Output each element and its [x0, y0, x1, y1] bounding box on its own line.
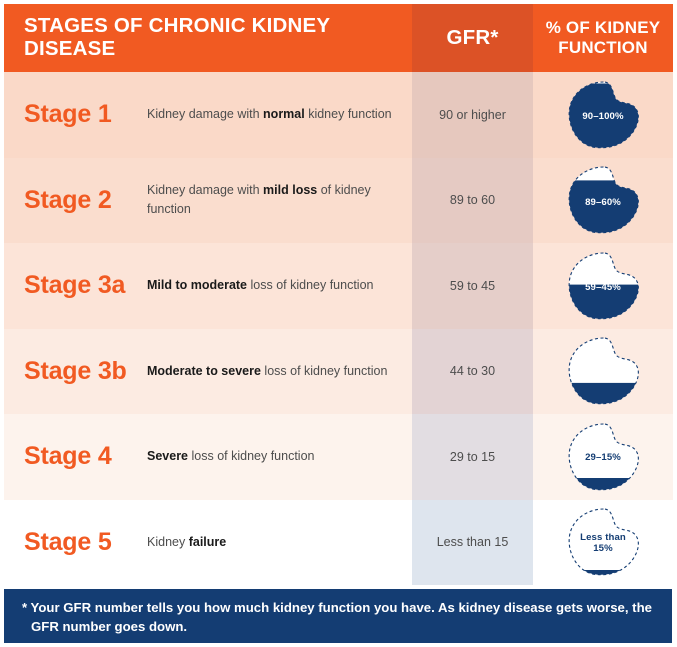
percent-function-cell: 44–30%	[533, 329, 673, 415]
kidney-label-line1: 90–100%	[582, 111, 623, 122]
kidney-label-line1: 59–45%	[585, 282, 621, 293]
kidney-percent-label: Less than15%	[580, 532, 626, 555]
stage-description-emphasis: mild loss	[263, 183, 317, 197]
gfr-value: 44 to 30	[450, 364, 495, 378]
stage-description: Kidney damage with normal kidney functio…	[147, 105, 402, 124]
stage-name-label: Stage 1	[24, 100, 147, 129]
stage-row: Stage 4 Severe loss of kidney function 2…	[4, 414, 673, 500]
stage-name-label: Stage 5	[24, 528, 147, 557]
stage-cell: Stage 3b Moderate to severe loss of kidn…	[4, 329, 412, 415]
kidney-label-line1: Less than	[580, 532, 626, 543]
header-cell-percent: % OF KIDNEY FUNCTION	[533, 4, 673, 72]
kidney-percent-label: 44–30%	[585, 371, 621, 383]
kidney-label-line2: 15%	[593, 543, 613, 554]
stage-description-emphasis: Mild to moderate	[147, 278, 247, 292]
percent-function-cell: 89–60%	[533, 158, 673, 244]
header-cell-gfr: GFR*	[412, 4, 533, 72]
kidney-icon: Less than15%	[564, 507, 642, 577]
kidney-icon: 89–60%	[564, 165, 642, 235]
percent-function-cell: 59–45%	[533, 243, 673, 329]
stage-description-emphasis: failure	[189, 535, 227, 549]
stage-description: Severe loss of kidney function	[147, 447, 324, 466]
percent-function-cell: 90–100%	[533, 72, 673, 158]
kidney-label-line1: 44–30%	[585, 371, 621, 382]
stages-table-body: Stage 1 Kidney damage with normal kidney…	[4, 72, 673, 585]
kidney-percent-label: 59–45%	[585, 282, 621, 294]
stage-row: Stage 3a Mild to moderate loss of kidney…	[4, 243, 673, 329]
stage-cell: Stage 4 Severe loss of kidney function	[4, 414, 412, 500]
stage-description: Kidney failure	[147, 533, 236, 552]
stage-description-emphasis: Severe	[147, 449, 188, 463]
stage-name-label: Stage 4	[24, 442, 147, 471]
gfr-value: 59 to 45	[450, 279, 495, 293]
stage-row: Stage 1 Kidney damage with normal kidney…	[4, 72, 673, 158]
gfr-footnote-text: * Your GFR number tells you how much kid…	[22, 598, 654, 636]
stage-description: Kidney damage with mild loss of kidney f…	[147, 181, 412, 220]
stage-row: Stage 2 Kidney damage with mild loss of …	[4, 158, 673, 244]
kidney-icon: 59–45%	[564, 251, 642, 321]
gfr-cell: Less than 15	[412, 500, 533, 586]
kidney-percent-label: 90–100%	[582, 111, 623, 123]
stage-description-emphasis: Moderate to severe	[147, 364, 261, 378]
stage-cell: Stage 5 Kidney failure	[4, 500, 412, 586]
stage-cell: Stage 3a Mild to moderate loss of kidney…	[4, 243, 412, 329]
header-percent-line2: FUNCTION	[558, 38, 647, 57]
table-header: STAGES OF CHRONIC KIDNEY DISEASE GFR* % …	[4, 4, 673, 72]
stage-description-emphasis: normal	[263, 107, 305, 121]
gfr-cell: 29 to 15	[412, 414, 533, 500]
stage-row: Stage 3b Moderate to severe loss of kidn…	[4, 329, 673, 415]
gfr-cell: 89 to 60	[412, 158, 533, 244]
header-gfr-title: GFR*	[446, 26, 498, 50]
stage-name-label: Stage 3a	[24, 271, 147, 300]
header-cell-stages: STAGES OF CHRONIC KIDNEY DISEASE	[4, 4, 412, 72]
gfr-cell: 44 to 30	[412, 329, 533, 415]
stage-row: Stage 5 Kidney failure Less than 15 Less…	[4, 500, 673, 586]
gfr-value: 29 to 15	[450, 450, 495, 464]
header-percent-title: % OF KIDNEY FUNCTION	[546, 18, 661, 57]
kidney-icon: 44–30%	[564, 336, 642, 406]
gfr-value: Less than 15	[437, 535, 509, 549]
percent-function-cell: 29–15%	[533, 414, 673, 500]
gfr-cell: 59 to 45	[412, 243, 533, 329]
gfr-footnote: * Your GFR number tells you how much kid…	[4, 589, 672, 643]
kidney-label-line1: 89–60%	[585, 197, 621, 208]
gfr-cell: 90 or higher	[412, 72, 533, 158]
kidney-icon: 90–100%	[564, 80, 642, 150]
stage-cell: Stage 2 Kidney damage with mild loss of …	[4, 158, 412, 244]
ckd-stages-infographic: STAGES OF CHRONIC KIDNEY DISEASE GFR* % …	[0, 0, 677, 647]
kidney-percent-label: 89–60%	[585, 197, 621, 209]
gfr-value: 89 to 60	[450, 193, 495, 207]
stage-name-label: Stage 3b	[24, 357, 147, 386]
stage-description: Moderate to severe loss of kidney functi…	[147, 362, 397, 381]
stage-description: Mild to moderate loss of kidney function	[147, 276, 383, 295]
stage-cell: Stage 1 Kidney damage with normal kidney…	[4, 72, 412, 158]
stage-name-label: Stage 2	[24, 186, 147, 215]
header-percent-line1: % OF KIDNEY	[546, 18, 661, 37]
percent-function-cell: Less than15%	[533, 500, 673, 586]
kidney-percent-label: 29–15%	[585, 452, 621, 464]
gfr-value: 90 or higher	[439, 108, 506, 122]
kidney-label-line1: 29–15%	[585, 452, 621, 463]
header-stages-title: STAGES OF CHRONIC KIDNEY DISEASE	[24, 15, 412, 60]
kidney-icon: 29–15%	[564, 422, 642, 492]
